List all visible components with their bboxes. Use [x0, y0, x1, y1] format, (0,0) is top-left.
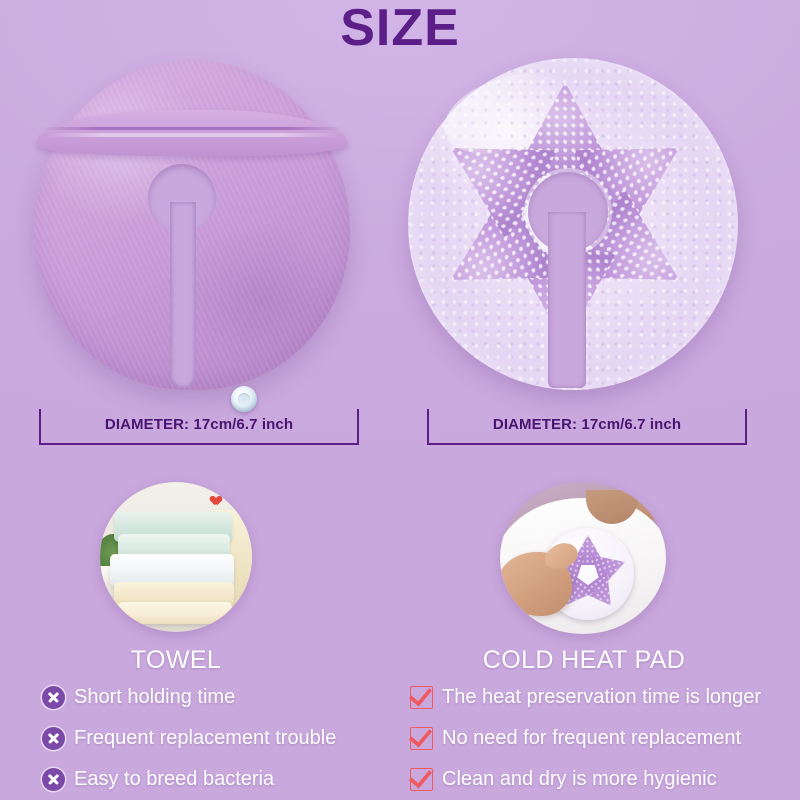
feature-text: Frequent replacement trouble	[74, 727, 336, 750]
feature-text: Easy to breed bacteria	[74, 768, 274, 791]
list-item: Easy to breed bacteria	[42, 768, 274, 791]
dimension-bracket-right: DIAMETER: 17cm/6.7 inch	[427, 409, 747, 445]
check-box-icon	[410, 686, 433, 709]
cross-circle-icon	[42, 727, 65, 750]
towel-cream-bottom	[118, 602, 232, 624]
gel-pad-illustration	[400, 48, 755, 398]
dimension-label-right: DIAMETER: 17cm/6.7 inch	[493, 416, 681, 433]
list-item: Frequent replacement trouble	[42, 727, 336, 750]
heart-icon	[208, 492, 219, 503]
page-title: SIZE	[0, 2, 800, 54]
towel-scene	[100, 482, 252, 632]
column-heading-towel: TOWEL	[110, 646, 242, 675]
gel-slot-cutout	[548, 212, 586, 388]
pad-use-scene	[500, 482, 666, 634]
feature-text: Clean and dry is more hygienic	[442, 768, 717, 791]
cross-circle-icon	[42, 686, 65, 709]
feature-text: Short holding time	[74, 686, 235, 709]
photo-pad-in-use	[500, 482, 666, 634]
check-box-icon	[410, 727, 433, 750]
product-image-velour-cover	[22, 52, 362, 397]
list-item: Short holding time	[42, 686, 235, 709]
infographic-page: SIZE DIAMETER: 17cm/6.7 inch DIAME	[0, 0, 800, 800]
list-item: No need for frequent replacement	[410, 727, 741, 750]
photo-towel-stack	[100, 482, 252, 632]
dimension-bracket-left: DIAMETER: 17cm/6.7 inch	[39, 409, 359, 445]
feature-text: The heat preservation time is longer	[442, 686, 761, 709]
cross-circle-icon	[42, 768, 65, 791]
velour-slot-cutout	[170, 202, 196, 388]
list-item: The heat preservation time is longer	[410, 686, 761, 709]
dimension-label-left: DIAMETER: 17cm/6.7 inch	[105, 416, 293, 433]
check-box-icon	[410, 768, 433, 791]
list-item: Clean and dry is more hygienic	[410, 768, 717, 791]
feature-text: No need for frequent replacement	[442, 727, 741, 750]
column-heading-cold-heat-pad: COLD HEAT PAD	[478, 646, 690, 675]
product-image-gel-pad	[400, 48, 755, 398]
velour-cover-illustration	[22, 52, 362, 397]
